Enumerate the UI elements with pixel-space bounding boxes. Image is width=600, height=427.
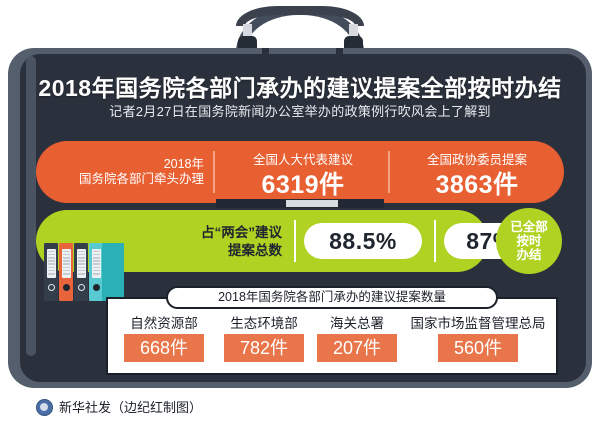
binder-4-icon: [89, 243, 103, 301]
department-value-box-4: 560件: [438, 334, 518, 362]
binder-2-icon: [59, 243, 73, 301]
binder-1-icon: [44, 243, 58, 301]
completion-status-text: 已全部 按时 办结: [496, 220, 562, 262]
completion-status-badge: 已全部 按时 办结: [496, 208, 562, 274]
orange-context-line1: 2018年: [79, 157, 204, 172]
page-title: 2018年国务院各部门承办的建议提案全部按时办结: [0, 69, 600, 103]
infographic-root: 2018年国务院各部门承办的建议提案全部按时办结 记者2月27日在国务院新闻办公…: [0, 0, 600, 427]
department-name-4: 国家市场监督管理总局: [400, 312, 556, 332]
orange-context-line2: 国务院各部门牵头办理: [79, 172, 204, 187]
orange-summary-band: 2018年 国务院各部门牵头办理 全国人大代表建议 6319件 全国政协委员提案…: [36, 141, 564, 203]
department-value-box-1: 668件: [124, 334, 204, 362]
npc-suggestions-value: 6319件: [222, 165, 384, 201]
department-value-box-3: 207件: [317, 334, 397, 362]
cppcc-proposals-stat: 全国政协委员提案 3863件: [396, 141, 558, 203]
percent-pill-npc: 88.5%: [304, 223, 422, 259]
page-subtitle: 记者2月27日在国务院新闻办公室举办的政策例行吹风会上了解到: [0, 101, 600, 120]
share-label-line1: 占“两会”建议: [92, 224, 282, 242]
percent-value-npc: 88.5%: [304, 223, 422, 259]
completion-line3: 办结: [496, 248, 562, 262]
xinhua-logo-icon: [36, 399, 53, 416]
binders-illustration: [44, 243, 116, 301]
department-name-2: 生态环境部: [216, 312, 312, 332]
suitcase-handle: [0, 0, 600, 52]
cppcc-proposals-value: 3863件: [396, 165, 558, 201]
completion-line1: 已全部: [496, 220, 562, 234]
department-value-3: 207件: [317, 334, 397, 362]
department-value-4: 560件: [438, 334, 518, 362]
completion-line2: 按时: [496, 234, 562, 248]
departments-caption-text: 2018年国务院各部门承办的建议提案数量: [168, 288, 496, 307]
department-value-1: 668件: [124, 334, 204, 362]
npc-suggestions-stat: 全国人大代表建议 6319件: [222, 141, 384, 203]
green-divider-1: [294, 220, 296, 262]
department-value-2: 782件: [224, 334, 304, 362]
footer-credit-text: 新华社发（边纪红制图）: [59, 398, 202, 418]
departments-card-caption: 2018年国务院各部门承办的建议提案数量: [166, 286, 498, 309]
suitcase-latch-icon: [286, 200, 338, 207]
binder-stack-block-icon: [102, 243, 124, 301]
green-divider-2: [434, 220, 436, 262]
department-value-box-2: 782件: [224, 334, 304, 362]
orange-divider-2: [388, 151, 390, 193]
binder-3-icon: [74, 243, 88, 301]
department-name-1: 自然资源部: [116, 312, 212, 332]
orange-divider-1: [213, 151, 215, 193]
department-name-3: 海关总署: [316, 312, 398, 332]
